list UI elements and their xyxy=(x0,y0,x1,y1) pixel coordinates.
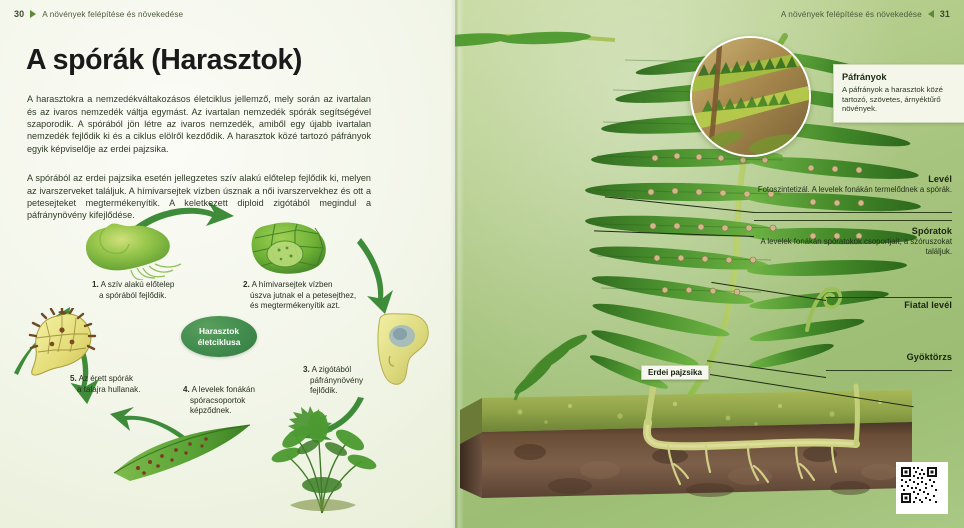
leader-rule-gyoktorzs xyxy=(826,370,952,371)
page-title: A spórák (Harasztok) xyxy=(26,44,302,77)
leader-rule-sporatok xyxy=(754,220,952,221)
running-head-right-text: A növények felépítése és növekedése xyxy=(781,10,922,19)
cycle-label-2-line1: A hímivarsejtek vízben xyxy=(252,280,333,289)
label-sporatok: Spóratok A levelek fonákán spóratokok cs… xyxy=(736,226,952,257)
tag-erdei-pajzsika: Erdei pajzsika xyxy=(641,365,709,380)
cycle-badge-line1: Harasztok xyxy=(199,326,239,336)
running-head-right: A növények felépítése és növekedése 31 xyxy=(781,9,950,19)
fern-frond-photo xyxy=(690,36,811,157)
cycle-label-1-num: 1. xyxy=(92,280,99,289)
cycle-badge-line2: életciklusa xyxy=(198,337,241,347)
cycle-label-5: 5. Az érett spórák a talajra hullanak. xyxy=(70,374,140,395)
frond-with-sori-illustration xyxy=(110,415,260,500)
leader-rule-fiatal-level xyxy=(826,297,952,298)
info-card-body: A páfrányok a harasztok közé tartozó, sz… xyxy=(842,85,962,114)
fern-illustration: Páfrányok A páfrányok a harasztok közé t… xyxy=(455,0,964,528)
running-head-left: 30 A növények felépítése és növekedése xyxy=(14,9,183,19)
label-fiatal-level: Fiatal levél xyxy=(812,300,952,310)
triangle-left-icon xyxy=(928,10,934,18)
triangle-right-icon xyxy=(30,10,36,18)
folio-left: 30 xyxy=(14,9,24,19)
info-card-pafranyok: Páfrányok A páfrányok a harasztok közé t… xyxy=(833,64,964,123)
body-paragraph-1: A harasztokra a nemzedékváltakozásos éle… xyxy=(27,93,371,155)
cycle-label-5-num: 5. xyxy=(70,374,77,383)
cycle-label-3-line1: A zigótából xyxy=(312,365,352,374)
textbook-spread: 30 A növények felépítése és növekedése A… xyxy=(0,0,964,528)
cycle-label-4-num: 4. xyxy=(183,385,190,394)
cycle-label-4: 4. A levelek fonákán spóracsoportok képz… xyxy=(183,385,255,417)
label-gyoktorzs: Gyöktörzs xyxy=(812,352,952,362)
cycle-label-4-line1: A levelek fonákán xyxy=(192,385,255,394)
cycle-label-2-line2: úszva jutnak el a petesejthez, xyxy=(243,291,356,302)
cycle-label-4-line3: képződnek. xyxy=(183,406,255,417)
label-gyoktorzs-title: Gyöktörzs xyxy=(812,352,952,362)
cycle-label-2: 2. A hímivarsejtek vízben úszva jutnak e… xyxy=(243,280,356,312)
label-level: Levél Fotoszintetizál. A levelek fonákán… xyxy=(752,174,952,195)
label-sporatok-body: A levelek fonákán spóratokok csoportjait… xyxy=(736,237,952,257)
info-card-title: Páfrányok xyxy=(842,72,962,82)
prothallium-illustration xyxy=(75,218,187,285)
cycle-label-4-line2: spóracsoportok xyxy=(183,396,255,407)
cycle-label-1-line1: A szív alakú előtelep xyxy=(101,280,175,289)
life-cycle-diagram: 1. A szív alakú előtelep a spórából fejl… xyxy=(0,200,455,528)
cycle-label-2-line3: és megtermékenyítik azt. xyxy=(243,301,356,312)
zygote-illustration xyxy=(372,308,434,395)
archegonium-illustration xyxy=(245,218,331,283)
running-head-left-text: A növények felépítése és növekedése xyxy=(42,10,183,19)
label-level-title: Levél xyxy=(752,174,952,184)
label-level-body: Fotoszintetizál. A levelek fonákán terme… xyxy=(752,185,952,195)
cycle-label-1-line2: a spórából fejlődik. xyxy=(92,291,174,302)
label-sporatok-title: Spóratok xyxy=(736,226,952,236)
cycle-label-5-line2: a talajra hullanak. xyxy=(70,385,140,396)
label-fiatal-level-title: Fiatal levél xyxy=(812,300,952,310)
cycle-arrow-2-to-3 xyxy=(355,236,399,316)
folio-right: 31 xyxy=(940,9,950,19)
cycle-label-1: 1. A szív alakú előtelep a spórából fejl… xyxy=(92,280,174,301)
cycle-label-2-num: 2. xyxy=(243,280,250,289)
cycle-badge: Harasztok életciklusa xyxy=(181,316,257,357)
leader-rule-level xyxy=(754,212,952,213)
body-paragraph-2: A spórából az erdei pajzsika esetén jell… xyxy=(27,172,371,222)
qr-code-icon[interactable] xyxy=(896,462,948,514)
cycle-label-3-num: 3. xyxy=(303,365,310,374)
young-fern-plant-illustration xyxy=(262,385,382,520)
cycle-label-5-line1: Az érett spórák xyxy=(79,374,133,383)
